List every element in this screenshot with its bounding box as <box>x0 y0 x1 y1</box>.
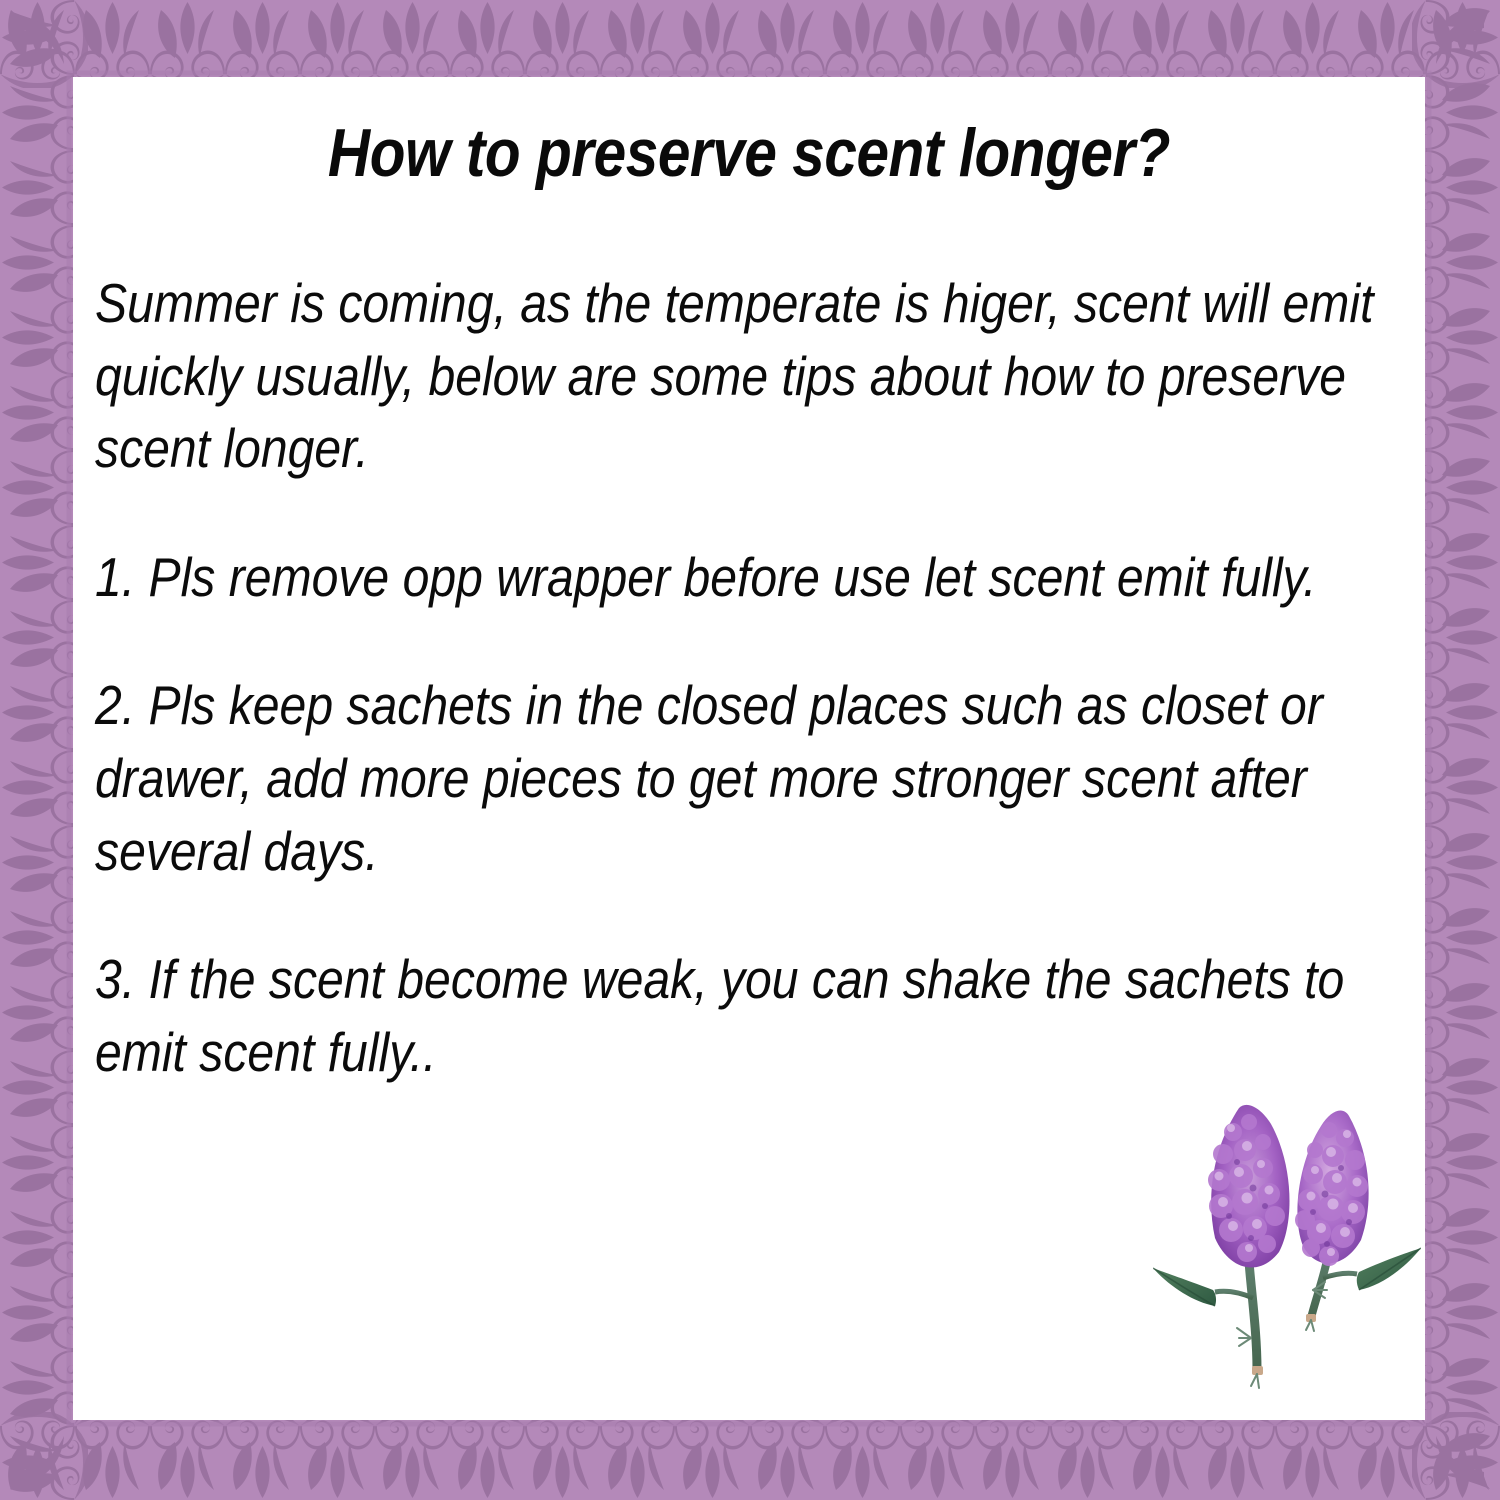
lilac-flower-illustration <box>1153 1102 1421 1402</box>
tip-3-paragraph: 3. If the scent become weak, you can sha… <box>95 943 1425 1088</box>
flower-leaves <box>1153 1248 1421 1306</box>
page-title: How to preserve scent longer? <box>168 77 1331 187</box>
lilac-cluster-left <box>1208 1105 1289 1268</box>
content-card: How to preserve scent longer? Summer is … <box>73 77 1425 1420</box>
flower-stems <box>1215 1252 1357 1388</box>
tip-2-paragraph: 2. Pls keep sachets in the closed places… <box>95 669 1425 887</box>
tip-1-paragraph: 1. Pls remove opp wrapper before use let… <box>95 541 1425 614</box>
lilac-cluster-right <box>1295 1111 1369 1266</box>
info-card-page: How to preserve scent longer? Summer is … <box>0 0 1500 1500</box>
intro-paragraph: Summer is coming, as the temperate is hi… <box>95 267 1425 485</box>
body-text-block: Summer is coming, as the temperate is hi… <box>95 267 1425 1088</box>
border-right <box>1412 0 1500 1500</box>
